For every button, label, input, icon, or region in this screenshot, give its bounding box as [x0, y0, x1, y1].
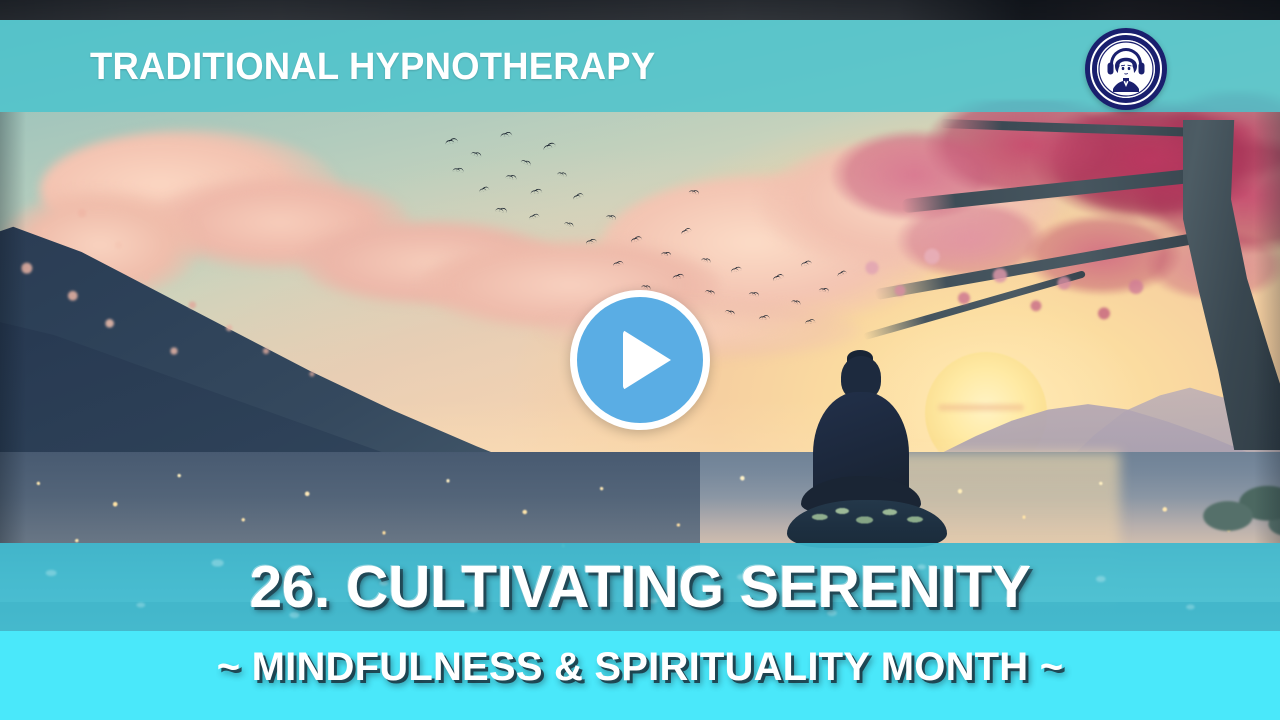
edge-vignette-right	[1254, 112, 1280, 543]
rock-plants	[803, 502, 943, 532]
headphones-woman-icon	[1097, 40, 1155, 98]
episode-title: 26. CULTIVATING SERENITY	[0, 553, 1280, 621]
channel-title: TRADITIONAL HYPNOTHERAPY	[90, 46, 655, 89]
hillside-blossoms	[0, 190, 450, 420]
play-triangle-icon	[623, 330, 671, 390]
player-top-strip	[0, 0, 1280, 20]
bird-icon	[661, 252, 668, 256]
video-player-frame: TRADITIONAL HYPNOTHERAPY	[0, 0, 1280, 720]
series-subtitle: ~ MINDFULNESS & SPIRITUALITY MONTH ~	[0, 645, 1280, 690]
blossom-sprays	[840, 150, 1240, 340]
sun-cloud-streak	[938, 404, 1024, 411]
meditating-figure	[795, 350, 925, 550]
channel-logo[interactable]	[1085, 28, 1167, 110]
bird-icon	[453, 168, 461, 172]
play-button[interactable]	[570, 290, 710, 430]
edge-vignette-left	[0, 112, 26, 543]
